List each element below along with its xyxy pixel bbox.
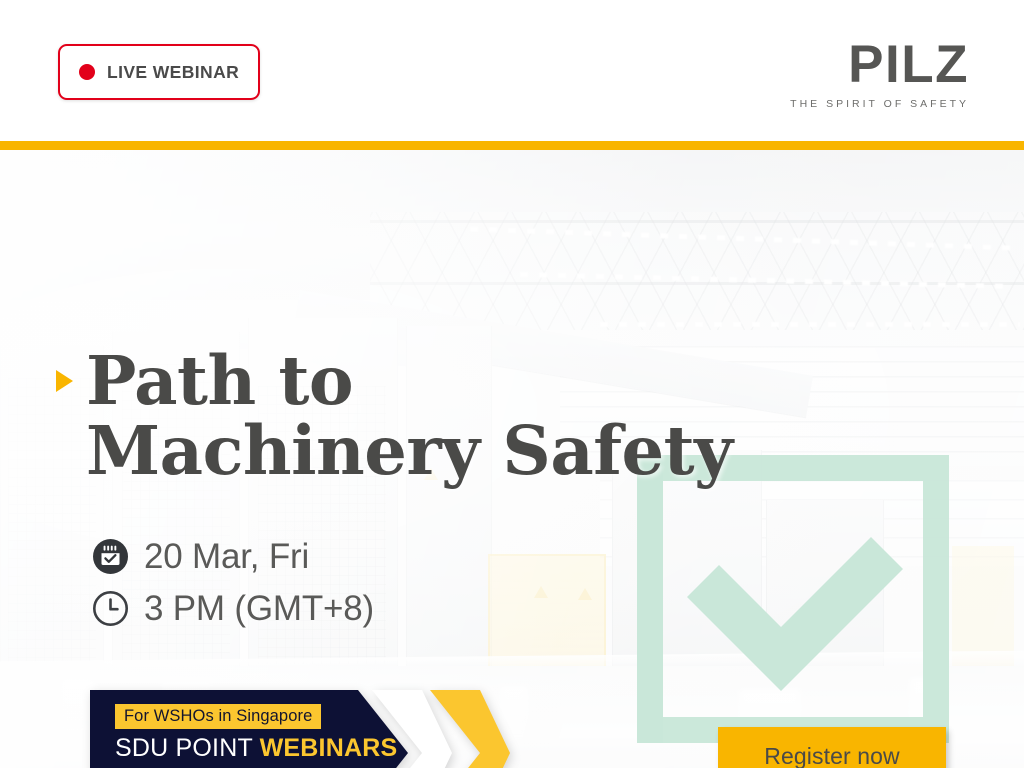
event-time-value: 3 PM (GMT+8) (144, 589, 374, 629)
event-date-value: 20 Mar, Fri (144, 537, 309, 577)
live-webinar-label: LIVE WEBINAR (107, 62, 239, 83)
live-webinar-badge: LIVE WEBINAR (58, 44, 260, 100)
accent-divider (0, 141, 1024, 150)
pilz-logo: PILZ THE SPIRIT OF SAFETY (790, 40, 969, 110)
hero-stage: Path to Machinery Safety (0, 150, 1024, 768)
event-date-row: 20 Mar, Fri (92, 534, 374, 579)
event-time-row: 3 PM (GMT+8) (92, 586, 374, 631)
clock-icon (92, 590, 129, 627)
calendar-check-icon (92, 538, 129, 575)
header: LIVE WEBINAR PILZ THE SPIRIT OF SAFETY (0, 0, 1024, 141)
sdu-audience-tag: For WSHOs in Singapore (115, 704, 321, 729)
pilz-tagline: THE SPIRIT OF SAFETY (790, 98, 969, 110)
hero-title: Path to Machinery Safety (86, 346, 733, 485)
register-now-button[interactable]: Register now (718, 727, 946, 768)
sdu-title-accent: WEBINARS (260, 734, 398, 762)
sdu-title-primary: SDU POINT (115, 734, 260, 762)
sdu-point-banner: For WSHOs in Singapore SDU POINT WEBINAR… (90, 690, 510, 768)
webinar-promo-banner: LIVE WEBINAR PILZ THE SPIRIT OF SAFETY (0, 0, 1024, 768)
hero-title-line-2: Machinery Safety (86, 416, 733, 486)
pilz-wordmark: PILZ (790, 40, 969, 91)
hero-title-line-1: Path to (86, 346, 733, 416)
triangle-right-icon (56, 370, 73, 392)
event-details: 20 Mar, Fri 3 PM (GMT+8) (92, 534, 374, 638)
live-dot-icon (79, 64, 95, 80)
check-square-icon (637, 455, 949, 743)
sdu-banner-title: SDU POINT WEBINARS (115, 734, 383, 764)
